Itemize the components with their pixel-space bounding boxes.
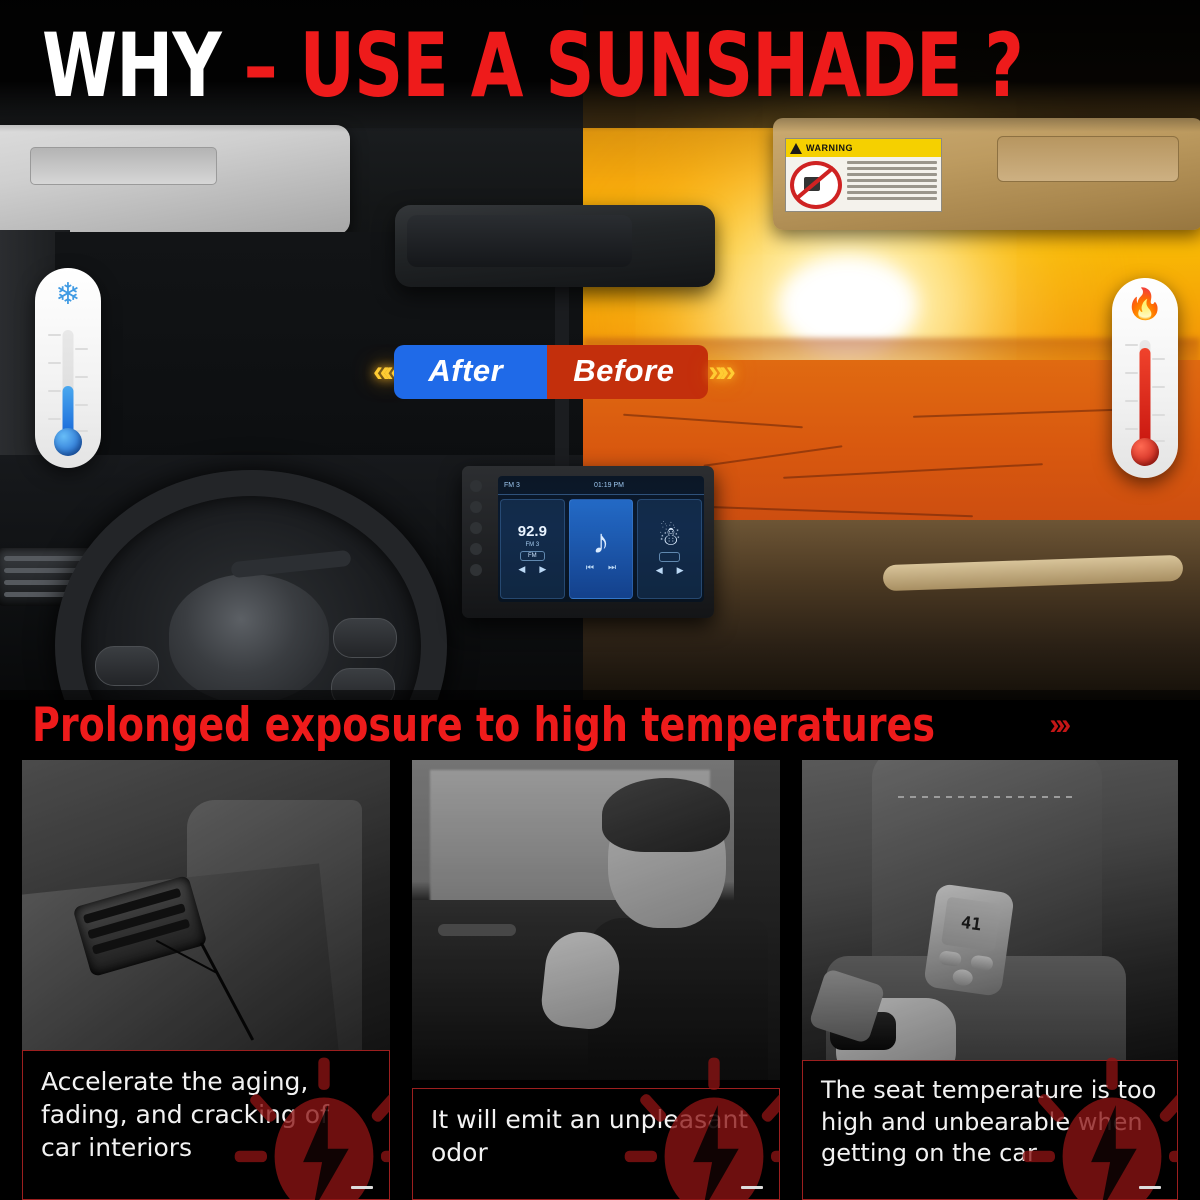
steering-wheel-hub bbox=[169, 574, 329, 700]
media-transport-controls[interactable]: ⏮ ⏭ bbox=[586, 562, 616, 573]
music-note-icon: ♪ bbox=[593, 525, 610, 559]
sun-visor-right: WARNING bbox=[773, 118, 1200, 230]
chevron-triple-icon: ››› bbox=[1049, 708, 1067, 742]
thermometer-mercury-right bbox=[1140, 348, 1151, 448]
caption-dash-mark bbox=[1139, 1186, 1161, 1189]
seat-stitching bbox=[898, 796, 1078, 798]
chevron-right-icon: »» bbox=[708, 355, 729, 389]
hot-thermometer: 🔥 bbox=[1112, 278, 1178, 478]
screen-status-bar: FM 3 01:19 PM bbox=[498, 476, 704, 495]
mirror-glass bbox=[407, 215, 632, 267]
phone-tile[interactable]: ☃ ◀ ▶ bbox=[637, 499, 702, 599]
gun-button-left bbox=[938, 950, 962, 967]
poster-title-bar: WHY – USE A SUNSHADE ? bbox=[0, 0, 1200, 132]
contact-next-icon[interactable]: ▶ bbox=[677, 565, 684, 576]
contact-prev-icon[interactable]: ◀ bbox=[656, 565, 663, 576]
photo-thermal-gun-on-seat: 41 bbox=[802, 760, 1178, 1080]
consequences-panel-row: Accelerate the aging, fading, and cracki… bbox=[0, 760, 1200, 1200]
cluster-shroud bbox=[230, 550, 351, 578]
caption-text: Accelerate the aging, fading, and cracki… bbox=[41, 1065, 373, 1164]
after-label[interactable]: After bbox=[394, 345, 547, 399]
gun-button-center bbox=[952, 968, 974, 987]
media-tile[interactable]: ♪ ⏮ ⏭ bbox=[569, 499, 634, 599]
chevron-left-icon: «« bbox=[373, 355, 394, 389]
panel-unpleasant-odor: It will emit an unpleasant odor bbox=[412, 760, 780, 1200]
thermometer-bulb-left bbox=[54, 428, 82, 456]
banner-headline: Prolonged exposure to high temperatures bbox=[32, 698, 935, 753]
rearview-mirror bbox=[395, 205, 715, 287]
infrared-thermometer-gun: 41 bbox=[923, 883, 1015, 997]
warning-triangle-icon bbox=[790, 143, 802, 154]
thermal-reading: 41 bbox=[960, 913, 983, 936]
flame-icon: 🔥 bbox=[1126, 290, 1163, 320]
cold-thermometer: ❄ bbox=[35, 268, 101, 468]
infotainment-screen[interactable]: FM 3 01:19 PM 92.9 FM 3 FM ◀ ▶ bbox=[498, 476, 704, 602]
thermometer-tube-right bbox=[1140, 340, 1151, 448]
photo-man-waving bbox=[412, 760, 780, 1080]
caption-text: The seat temperature is too high and unb… bbox=[821, 1075, 1161, 1170]
skip-forward-icon[interactable]: ⏭ bbox=[608, 562, 616, 573]
radio-seek-controls[interactable]: ◀ ▶ bbox=[518, 564, 546, 575]
page-title: WHY – USE A SUNSHADE ? bbox=[42, 22, 1023, 110]
photo-cracked-dashboard bbox=[22, 760, 390, 1080]
caption-box: Accelerate the aging, fading, and cracki… bbox=[22, 1050, 390, 1200]
head-unit-buttons[interactable] bbox=[470, 480, 482, 576]
caption-text: It will emit an unpleasant odor bbox=[431, 1103, 763, 1169]
sunshade-promo-poster: WARNING bbox=[0, 0, 1200, 1200]
door-handle bbox=[438, 924, 516, 936]
contact-chip[interactable] bbox=[659, 552, 680, 562]
screen-clock: 01:19 PM bbox=[594, 482, 624, 489]
panel-interior-aging: Accelerate the aging, fading, and cracki… bbox=[22, 760, 390, 1200]
caption-box: It will emit an unpleasant odor bbox=[412, 1088, 780, 1200]
caption-dash-mark bbox=[351, 1186, 373, 1189]
contact-nav-controls[interactable]: ◀ ▶ bbox=[656, 565, 684, 576]
thermometer-tube-left bbox=[63, 330, 74, 438]
before-label[interactable]: Before bbox=[547, 345, 708, 399]
caption-dash-mark bbox=[741, 1186, 763, 1189]
skip-back-icon[interactable]: ⏮ bbox=[586, 562, 594, 573]
child-seat-glyph bbox=[804, 177, 820, 191]
airbag-warning-label: WARNING bbox=[785, 138, 942, 212]
snowflake-icon: ❄ bbox=[55, 280, 80, 310]
visor-mirror-slot-right bbox=[997, 136, 1179, 182]
screen-body: 92.9 FM 3 FM ◀ ▶ ♪ ⏮ ⏭ bbox=[498, 495, 704, 602]
caption-box: The seat temperature is too high and unb… bbox=[802, 1060, 1178, 1200]
wheel-control-right-top bbox=[333, 618, 397, 658]
warning-heading: WARNING bbox=[806, 143, 853, 153]
wheel-control-left bbox=[95, 646, 159, 686]
visor-mirror-slot bbox=[30, 147, 217, 185]
radio-frequency: 92.9 bbox=[518, 524, 547, 539]
radio-tile[interactable]: 92.9 FM 3 FM ◀ ▶ bbox=[500, 499, 565, 599]
warning-header: WARNING bbox=[786, 139, 941, 157]
section-banner: Prolonged exposure to high temperatures … bbox=[0, 690, 1200, 760]
radio-source-chip[interactable]: FM bbox=[520, 551, 545, 561]
seek-next-icon[interactable]: ▶ bbox=[539, 564, 546, 575]
person-icon: ☃ bbox=[658, 523, 681, 549]
title-white-part: WHY bbox=[42, 14, 221, 117]
gun-button-right bbox=[970, 955, 994, 972]
person-hair bbox=[602, 778, 730, 852]
panel-seat-temperature: 41 bbox=[802, 760, 1178, 1200]
radio-band: FM 3 bbox=[526, 542, 540, 548]
warning-body bbox=[786, 157, 941, 212]
infotainment-head-unit: FM 3 01:19 PM 92.9 FM 3 FM ◀ ▶ bbox=[462, 466, 714, 618]
no-child-seat-icon bbox=[790, 161, 842, 209]
title-red-part: – USE A SUNSHADE ? bbox=[244, 14, 1023, 117]
before-after-toggle[interactable]: «« After Before »» bbox=[373, 345, 730, 399]
thermometer-bulb-right bbox=[1131, 438, 1159, 466]
seek-prev-icon[interactable]: ◀ bbox=[518, 564, 525, 575]
sun-visor-left bbox=[0, 125, 350, 235]
screen-source-label: FM 3 bbox=[504, 482, 520, 489]
warning-text-lines bbox=[847, 161, 937, 209]
thermometer-display: 41 bbox=[941, 897, 1001, 952]
